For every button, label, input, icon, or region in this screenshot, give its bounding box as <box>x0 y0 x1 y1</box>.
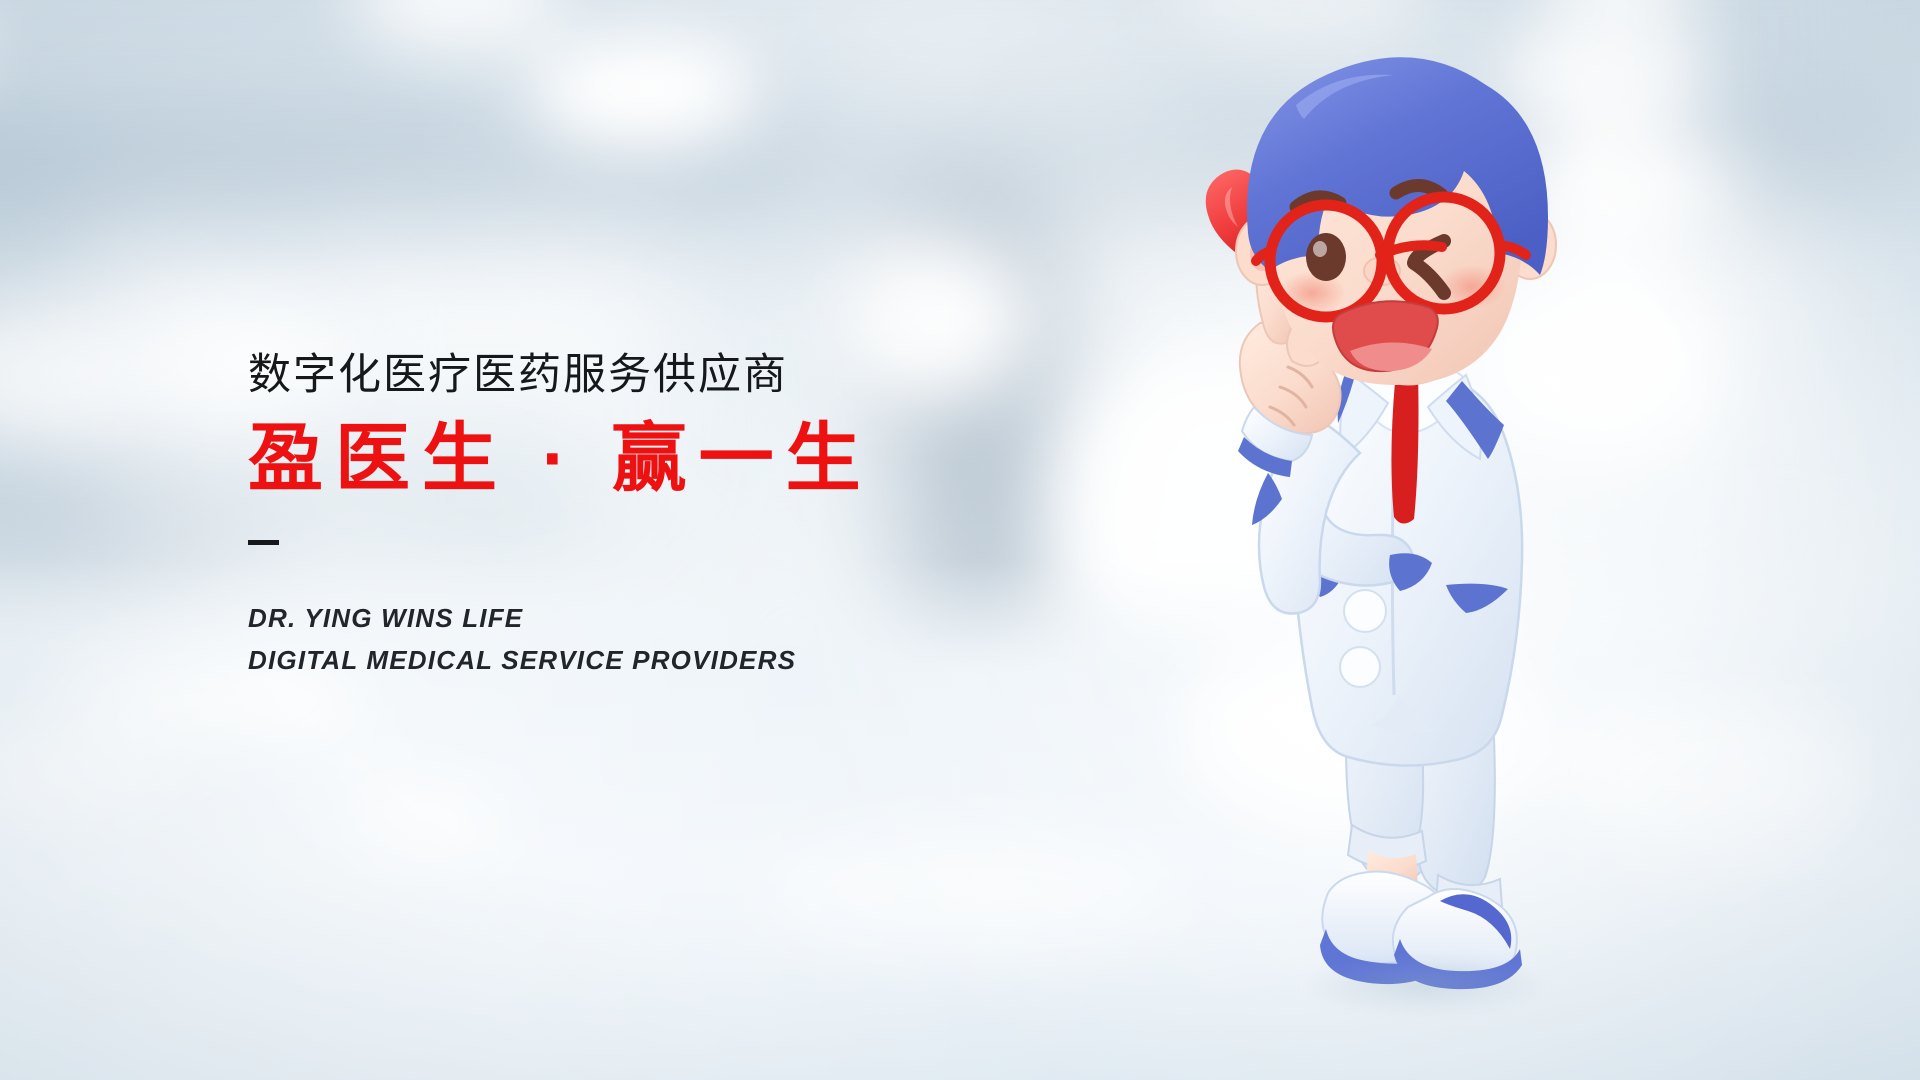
window-glow <box>0 310 150 440</box>
doctor-mascot-illustration <box>1200 55 1620 1055</box>
window-glow <box>1170 0 1430 60</box>
hero-copy: 数字化医疗医药服务供应商 盈医生 · 赢一生 DR. YING WINS LIF… <box>248 352 873 681</box>
divider-rule <box>248 540 279 545</box>
mascot-svg <box>1200 55 1620 1055</box>
ceiling-light <box>530 30 760 150</box>
floor-sheen <box>0 740 180 810</box>
mascot-shadow <box>1300 955 1550 1015</box>
ceiling-light <box>1540 0 1710 10</box>
open-eye <box>1306 233 1346 281</box>
hero-banner: 数字化医疗医药服务供应商 盈医生 · 赢一生 DR. YING WINS LIF… <box>0 0 1920 1080</box>
ceiling-light <box>350 0 560 50</box>
page-title: 盈医生 · 赢一生 <box>248 419 873 498</box>
english-subtitle-line-1: DR. YING WINS LIFE <box>248 597 873 639</box>
tie <box>1391 367 1418 524</box>
english-subtitle-line-2: DIGITAL MEDICAL SERVICE PROVIDERS <box>248 639 873 681</box>
coat-button <box>1344 590 1386 632</box>
floor-sheen <box>330 780 510 870</box>
coat-button <box>1340 647 1380 687</box>
kicker-text: 数字化医疗医药服务供应商 <box>248 352 873 399</box>
english-subtitle-group: DR. YING WINS LIFE DIGITAL MEDICAL SERVI… <box>248 597 873 681</box>
floor-sheen <box>760 830 1180 950</box>
eye-highlight <box>1313 241 1327 257</box>
